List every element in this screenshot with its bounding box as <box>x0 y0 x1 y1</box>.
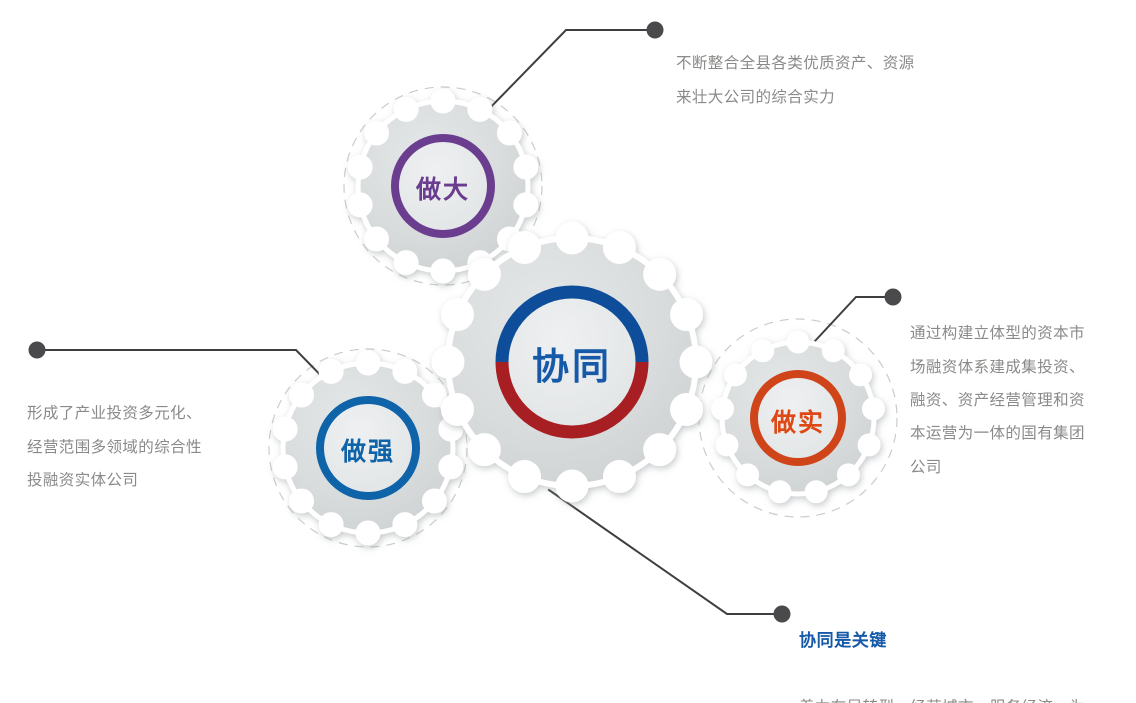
gear-tooth-notch <box>440 456 462 478</box>
gear-tooth-notch <box>469 435 499 465</box>
gear-tooth-notch <box>806 482 826 502</box>
gear-tooth-notch <box>838 465 858 485</box>
gear-tooth-notch <box>515 194 537 216</box>
callout-top-text: 不断整合全县各类优质资产、资源 来壮大公司的综合实力 <box>676 47 976 114</box>
gear-tooth-notch <box>320 514 342 536</box>
gear-tooth-notch <box>672 300 702 330</box>
gear-tooth-notch <box>738 465 758 485</box>
gear-tooth-notch <box>863 399 883 419</box>
gear-tooth-notch <box>349 156 371 178</box>
gear-tooth-notch <box>432 260 454 282</box>
gear-tooth-notch <box>681 347 711 377</box>
gear-tooth-notch <box>469 259 499 289</box>
gear-tooth-notch <box>788 332 808 352</box>
connector-line-bottom <box>549 490 776 614</box>
gear-tooth-notch <box>366 122 388 144</box>
callout-left: 形成了产业投资多元化、 经营范围多领域的综合性 投融资实体公司 <box>27 364 287 531</box>
gear-tooth-notch <box>557 223 587 253</box>
connector-line-top <box>486 30 650 112</box>
gear-tooth-notch <box>433 347 463 377</box>
gear-tooth-notch <box>366 228 388 250</box>
connector-dot-left <box>29 342 46 359</box>
gear-tooth-notch <box>604 232 634 262</box>
gear-tooth-notch <box>604 462 634 492</box>
gear-tooth-notch <box>498 122 520 144</box>
gear-solid-hub <box>754 374 842 462</box>
callout-top: 不断整合全县各类优质资产、资源 来壮大公司的综合实力 <box>676 14 976 147</box>
gear-tooth-notch <box>357 522 379 544</box>
callout-left-text: 形成了产业投资多元化、 经营范围多领域的综合性 投融资实体公司 <box>27 397 287 497</box>
infographic-canvas: 协同 做大 做强 做实 不断整合全县各类优质资产、资源 来壮大公司的综合实力 通… <box>0 0 1136 703</box>
gear-center-hub <box>502 292 642 432</box>
gear-tooth-notch <box>394 514 416 536</box>
gear-tooth-notch <box>753 341 773 361</box>
gear-tooth-notch <box>442 300 472 330</box>
gear-tooth-notch <box>672 394 702 424</box>
callout-bottom-text: 着力布局转型，经营城市，服务经济，为 泸县建设和社会发展贡献汇兴力量 <box>799 692 1129 703</box>
gear-tooth-notch <box>510 232 540 262</box>
gear-tooth-notch <box>320 360 342 382</box>
gear-tooth-notch <box>394 360 416 382</box>
gear-tooth-notch <box>725 365 745 385</box>
gear-tooth-notch <box>851 365 871 385</box>
callout-bottom: 协同是关键 着力布局转型，经营城市，服务经济，为 泸县建设和社会发展贡献汇兴力量 <box>799 595 1129 703</box>
gear-strong-hub <box>320 400 416 496</box>
gear-tooth-notch <box>395 252 417 274</box>
gear-tooth-notch <box>510 462 540 492</box>
gear-tooth-notch <box>442 394 472 424</box>
callout-right-text: 通过构建立体型的资本市 场融资体系建成集投资、 融资、资产经营管理和资 本运营为… <box>910 317 1136 484</box>
gear-tooth-notch <box>469 98 491 120</box>
gear-tooth-notch <box>432 90 454 112</box>
gear-tooth-notch <box>859 435 879 455</box>
gear-tooth-notch <box>349 194 371 216</box>
gear-tooth-notch <box>395 98 417 120</box>
gear-big-hub <box>395 138 491 234</box>
gear-tooth-notch <box>515 156 537 178</box>
gear-tooth-notch <box>557 471 587 501</box>
gear-tooth-notch <box>423 490 445 512</box>
connector-dot-bottom <box>774 606 791 623</box>
gear-tooth-notch <box>357 352 379 374</box>
gear-tooth-notch <box>291 490 313 512</box>
callout-right: 通过构建立体型的资本市 场融资体系建成集投资、 融资、资产经营管理和资 本运营为… <box>910 284 1136 517</box>
callout-bottom-title: 协同是关键 <box>799 628 1129 654</box>
gear-tooth-notch <box>645 259 675 289</box>
gear-tooth-notch <box>645 435 675 465</box>
connector-line-right <box>815 297 888 341</box>
gear-tooth-notch <box>823 341 843 361</box>
gear-tooth-notch <box>291 384 313 406</box>
gear-tooth-notch <box>770 482 790 502</box>
gear-tooth-notch <box>717 435 737 455</box>
connector-dot-top <box>647 22 664 39</box>
gear-tooth-notch <box>423 384 445 406</box>
gear-tooth-notch <box>713 399 733 419</box>
connector-dot-right <box>885 289 902 306</box>
